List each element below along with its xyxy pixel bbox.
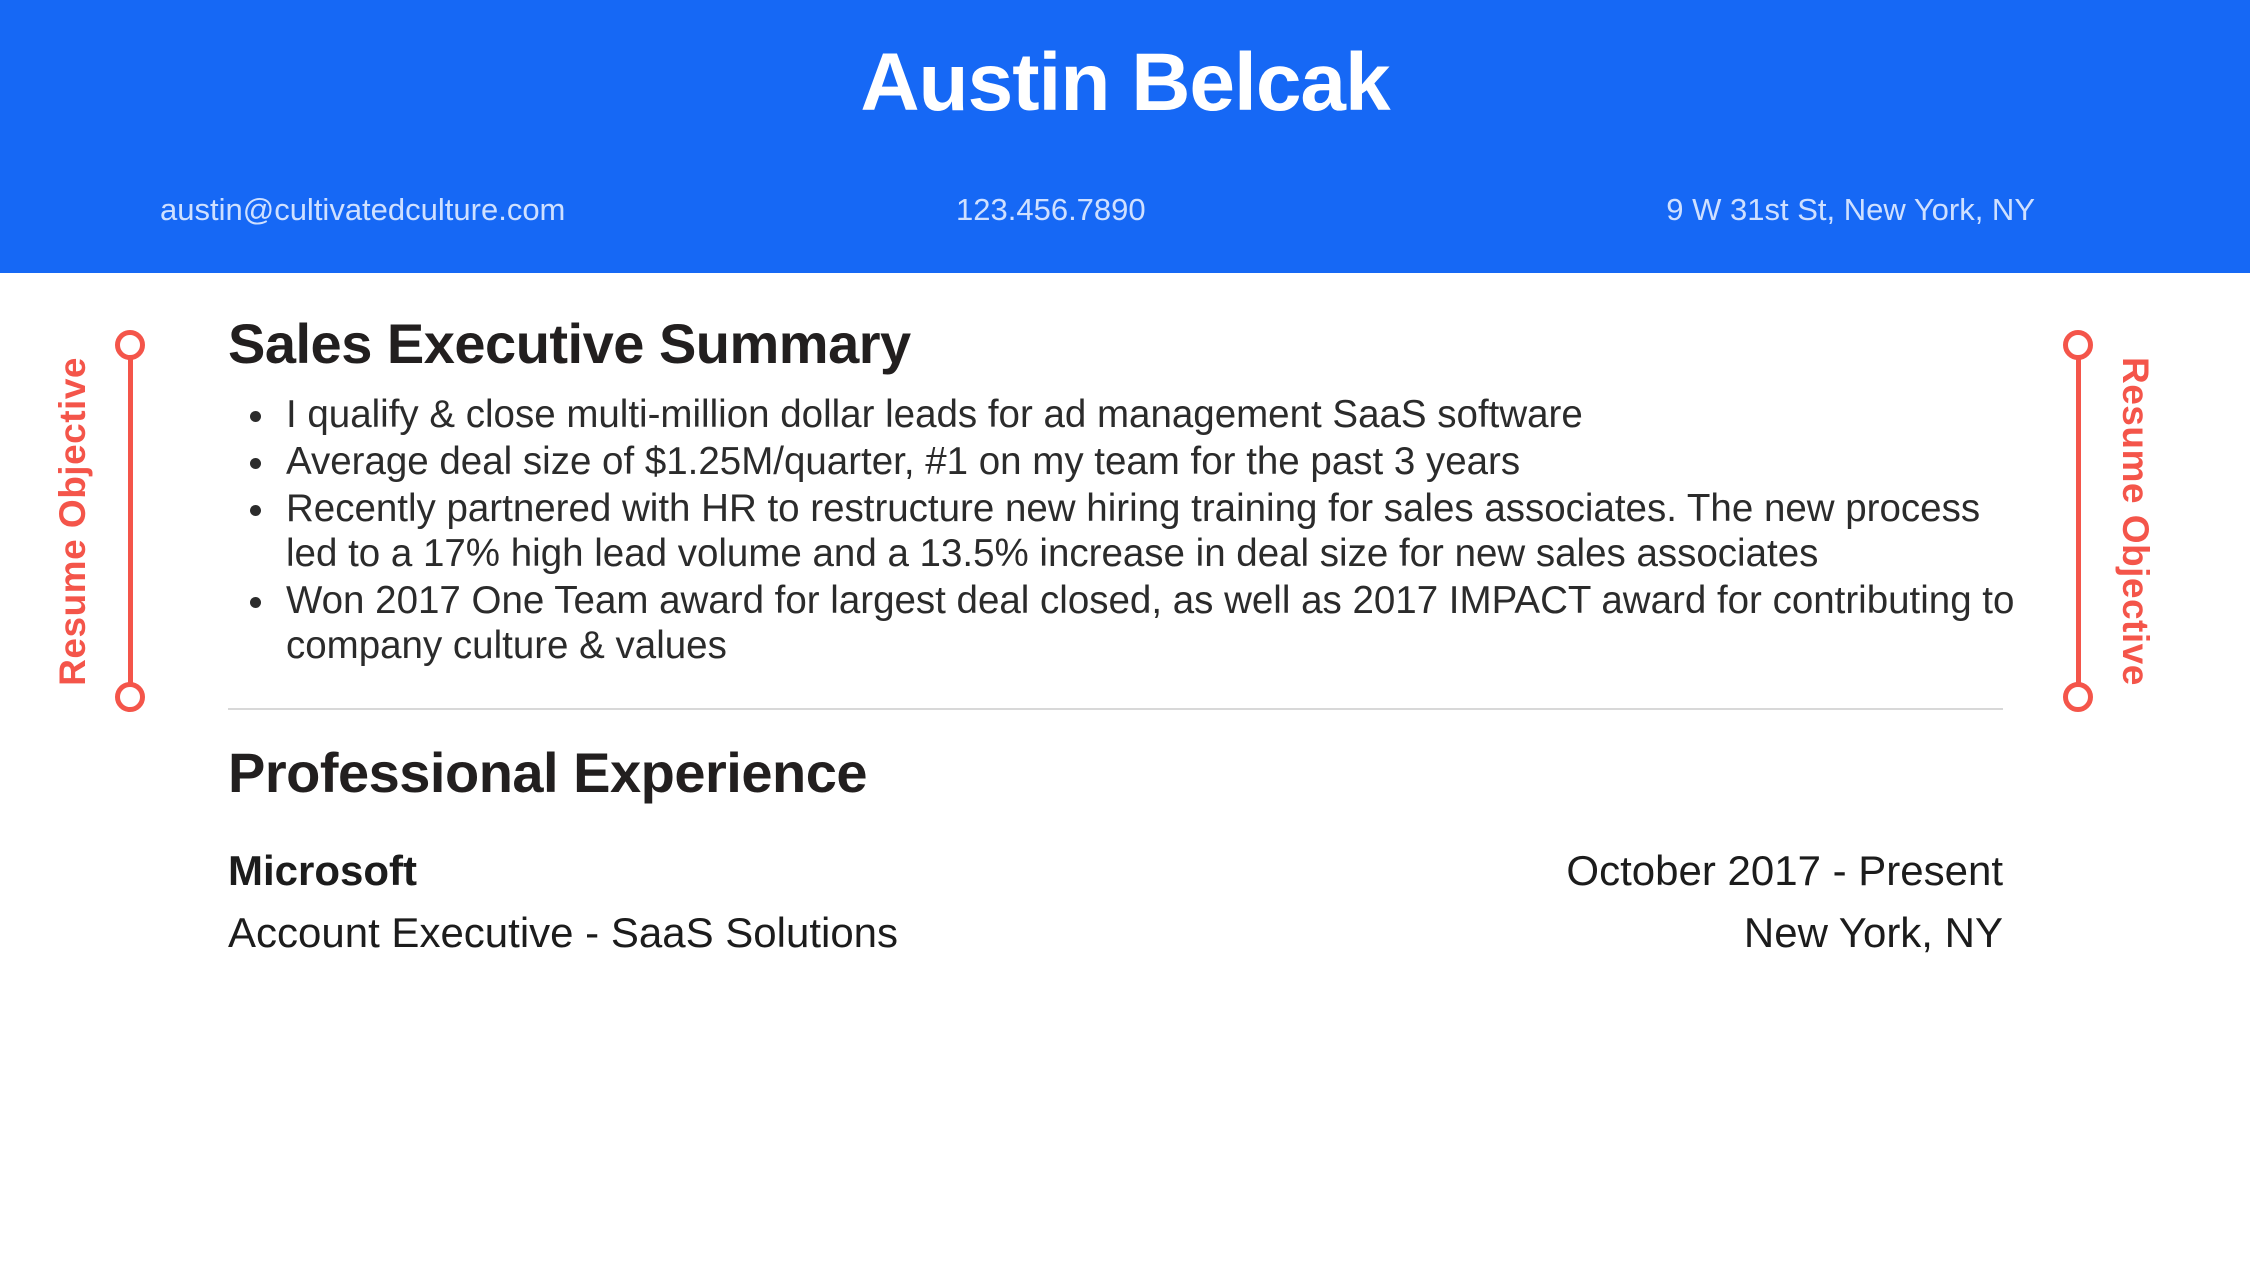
job-location: New York, NY bbox=[1744, 909, 2003, 957]
annotation-circle-bottom-icon bbox=[2063, 682, 2093, 712]
annotation-left-bracket-icon bbox=[112, 330, 148, 712]
resume-content: Sales Executive Summary I qualify & clos… bbox=[228, 273, 2018, 958]
annotation-left-label: Resume Objective bbox=[52, 357, 94, 686]
experience-entry: Microsoft October 2017 - Present Account… bbox=[228, 847, 2018, 958]
annotation-right-label: Resume Objective bbox=[2114, 357, 2156, 686]
annotation-line-icon bbox=[2076, 344, 2081, 698]
list-item: I qualify & close multi-million dollar l… bbox=[228, 392, 2018, 437]
list-item: Won 2017 One Team award for largest deal… bbox=[228, 578, 2018, 668]
experience-entry-row-secondary: Account Executive - SaaS Solutions New Y… bbox=[228, 909, 2003, 957]
contact-row: austin@cultivatedculture.com 123.456.789… bbox=[160, 192, 2090, 228]
contact-email[interactable]: austin@cultivatedculture.com bbox=[160, 192, 565, 228]
annotation-line-icon bbox=[128, 344, 133, 698]
annotation-right-resume-objective: Resume Objective bbox=[2060, 330, 2156, 712]
resume-header: Austin Belcak austin@cultivatedculture.c… bbox=[0, 0, 2250, 273]
summary-bullet-list: I qualify & close multi-million dollar l… bbox=[228, 392, 2018, 668]
contact-address: 9 W 31st St, New York, NY bbox=[1666, 192, 2090, 228]
list-item: Average deal size of $1.25M/quarter, #1 … bbox=[228, 439, 2018, 484]
summary-section-title: Sales Executive Summary bbox=[228, 273, 2018, 376]
list-item: Recently partnered with HR to restructur… bbox=[228, 486, 2018, 576]
job-company: Microsoft bbox=[228, 847, 417, 895]
job-dates: October 2017 - Present bbox=[1566, 847, 2003, 895]
experience-entry-row-primary: Microsoft October 2017 - Present bbox=[228, 847, 2003, 895]
annotation-left-resume-objective: Resume Objective bbox=[52, 330, 148, 712]
annotation-circle-top-icon bbox=[115, 330, 145, 360]
annotation-right-bracket-icon bbox=[2060, 330, 2096, 712]
annotation-circle-top-icon bbox=[2063, 330, 2093, 360]
contact-phone[interactable]: 123.456.7890 bbox=[565, 192, 1666, 228]
annotation-circle-bottom-icon bbox=[115, 682, 145, 712]
page-title: Austin Belcak bbox=[0, 40, 2250, 126]
resume-body: Sales Executive Summary I qualify & clos… bbox=[0, 273, 2250, 1280]
job-role: Account Executive - SaaS Solutions bbox=[228, 909, 898, 957]
experience-section-title: Professional Experience bbox=[228, 710, 2018, 805]
